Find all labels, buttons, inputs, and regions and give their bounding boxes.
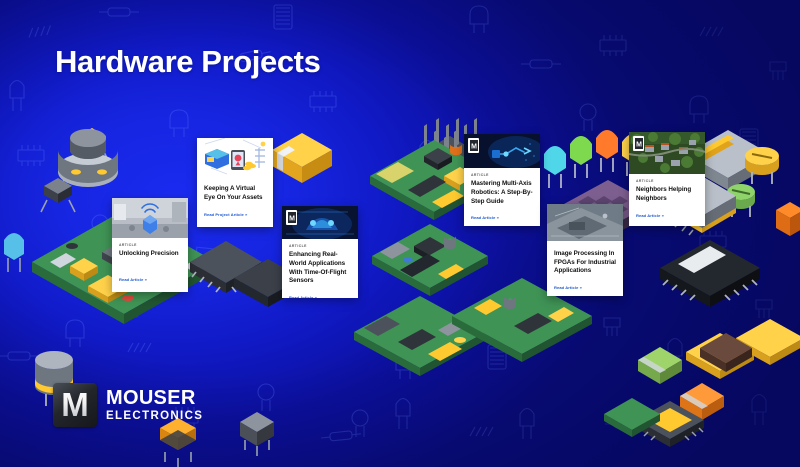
card-image-indoor-positioning xyxy=(112,198,188,238)
article-card-image-processing-fpgas[interactable]: Image Processing In FPGAs For Industrial… xyxy=(547,204,623,296)
card-title: Keeping A Virtual Eye On Your Assets xyxy=(204,185,266,202)
card-body: ARTICLE Unlocking Precision xyxy=(112,238,188,268)
svg-text:M: M xyxy=(636,141,642,148)
logo-brand-tagline: ELECTRONICS xyxy=(106,411,203,423)
read-article-link[interactable]: Read Article » xyxy=(119,277,147,282)
read-article-link[interactable]: Read Article » xyxy=(289,295,317,298)
card-footer: Read Article » xyxy=(547,276,623,296)
card-image-suburban-aerial: M xyxy=(629,132,705,174)
card-footer: Read Article » xyxy=(112,268,188,292)
card-body: Image Processing In FPGAs For Industrial… xyxy=(547,241,623,276)
card-image-asset-tracking xyxy=(197,138,273,176)
card-image-time-of-flight-car: M xyxy=(282,206,358,239)
logo-brand-name: MOUSER xyxy=(106,388,203,408)
article-card-time-of-flight-sensors[interactable]: M ARTICLE Enhancing Real-World Applicati… xyxy=(282,206,358,298)
read-article-link[interactable]: Read Article » xyxy=(636,213,664,218)
article-card-multi-axis-robotics[interactable]: M ARTICLE Mastering Multi-Axis Robotics:… xyxy=(464,134,540,226)
svg-text:M: M xyxy=(289,215,295,222)
card-title: Unlocking Precision xyxy=(119,250,181,259)
card-kicker: ARTICLE xyxy=(119,244,181,247)
card-body: ARTICLE Mastering Multi-Axis Robotics: A… xyxy=(464,168,540,206)
card-kicker: ARTICLE xyxy=(636,180,698,183)
logo-letter: M xyxy=(61,388,89,421)
svg-text:M: M xyxy=(471,143,477,150)
card-footer: Read Article » xyxy=(629,204,705,226)
article-card-keeping-a-virtual-eye[interactable]: Keeping A Virtual Eye On Your Assets Rea… xyxy=(197,138,273,227)
mouser-badge-icon: M xyxy=(286,210,297,225)
logo-wordmark: MOUSER ELECTRONICS xyxy=(106,388,203,423)
card-body: ARTICLE Enhancing Real-World Application… xyxy=(282,239,358,286)
card-body: ARTICLE Neighbors Helping Neighbors xyxy=(629,174,705,204)
mouser-badge-icon: M xyxy=(633,136,644,151)
card-title: Enhancing Real-World Applications With T… xyxy=(289,251,351,286)
read-article-link[interactable]: Read Article » xyxy=(471,215,499,220)
mouser-badge-icon: M xyxy=(468,138,479,153)
card-title: Image Processing In FPGAs For Industrial… xyxy=(554,250,616,276)
article-card-unlocking-precision[interactable]: ARTICLE Unlocking Precision Read Article… xyxy=(112,198,188,292)
article-card-neighbors-helping-neighbors[interactable]: M ARTICLE Neighbors Helping Neighbors Re… xyxy=(629,132,705,226)
card-kicker: ARTICLE xyxy=(471,174,533,177)
card-title: Neighbors Helping Neighbors xyxy=(636,186,698,203)
card-footer: Read Project Article » xyxy=(197,203,273,227)
mouser-m-mark-icon: M xyxy=(53,383,97,427)
card-image-fpga-board xyxy=(547,204,623,241)
card-body: Keeping A Virtual Eye On Your Assets xyxy=(197,176,273,203)
read-article-link[interactable]: Read Project Article » xyxy=(204,212,247,217)
mouser-electronics-logo[interactable]: M MOUSER ELECTRONICS xyxy=(53,383,203,427)
card-kicker: ARTICLE xyxy=(289,245,351,248)
card-image-robotic-arm: M xyxy=(464,134,540,168)
card-footer: Read Article » xyxy=(282,286,358,298)
hero-banner: Hardware Projects xyxy=(0,0,800,467)
card-title: Mastering Multi-Axis Robotics: A Step-By… xyxy=(471,180,533,206)
read-article-link[interactable]: Read Article » xyxy=(554,285,582,290)
card-footer: Read Article » xyxy=(464,206,540,226)
